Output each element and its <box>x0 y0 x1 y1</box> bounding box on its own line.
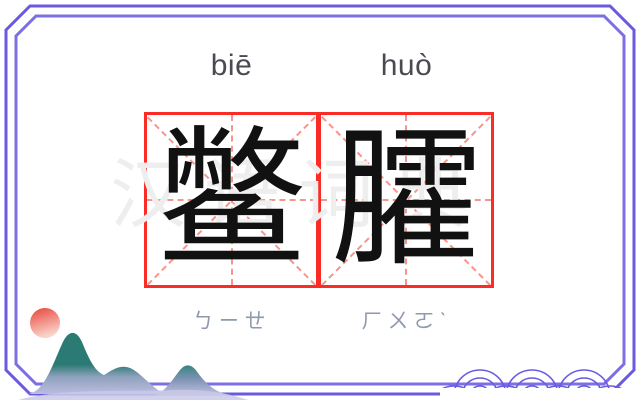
sun-icon <box>30 308 60 338</box>
mountain-haze <box>18 390 248 400</box>
pinyin-second: huò <box>319 44 494 88</box>
grid-cell-first: 鳖 <box>144 112 319 288</box>
mountain-large <box>28 333 164 394</box>
zhuyin-second: ㄏㄨㄛˋ <box>319 302 494 338</box>
mountain-small <box>152 365 232 396</box>
character-grid: 鳖 臛 <box>144 112 494 288</box>
pinyin-row: biē huò <box>144 44 494 88</box>
zhuyin-row: ㄅㄧㄝ ㄏㄨㄛˋ <box>144 302 494 338</box>
zhuyin-first: ㄅㄧㄝ <box>144 302 319 338</box>
flashcard-canvas: 汉语词典 biē huò 鳖 臛 ㄅㄧㄝ ㄏㄨㄛˋ <box>0 0 640 400</box>
wave-baseline-mask <box>440 388 640 400</box>
hanzi-first: 鳖 <box>147 115 316 285</box>
wave-arcs <box>440 370 636 400</box>
hanzi-second: 臛 <box>321 115 491 285</box>
grid-cell-second: 臛 <box>319 112 494 288</box>
pinyin-first: biē <box>144 44 319 88</box>
